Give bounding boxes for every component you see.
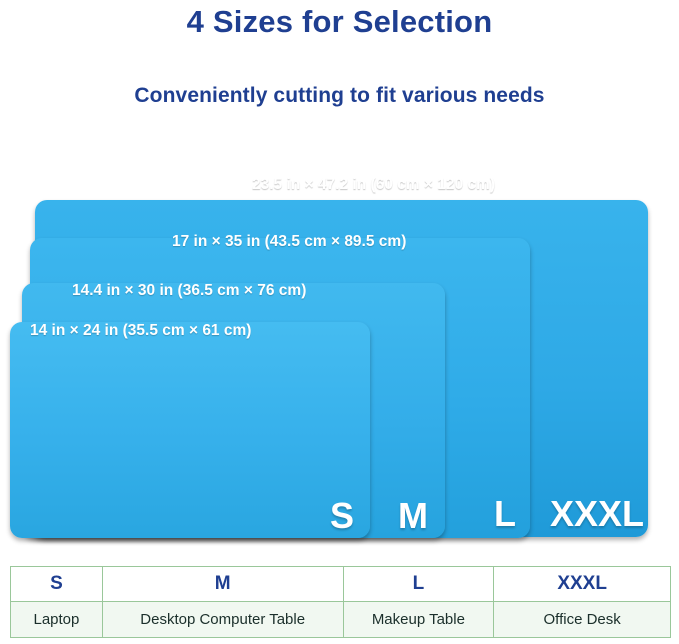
table-column-l: L Makeup Table (344, 567, 495, 637)
mat-stack: 23.5 in × 47.2 in (60 cm × 120 cm) 17 in… (0, 0, 679, 560)
table-cell-l-use: Makeup Table (344, 602, 494, 637)
table-column-s: S Laptop (11, 567, 103, 637)
table-column-xxxl: XXXL Office Desk (494, 567, 670, 637)
mat-dimension-m: 14.4 in × 30 in (36.5 cm × 76 cm) (72, 282, 306, 300)
table-column-m: M Desktop Computer Table (103, 567, 344, 637)
mat-dimension-xxxl: 23.5 in × 47.2 in (60 cm × 120 cm) (252, 176, 495, 194)
size-selection-infographic: 4 Sizes for Selection Conveniently cutti… (0, 0, 679, 644)
mat-label-l: L (494, 493, 516, 535)
mat-dimension-l: 17 in × 35 in (43.5 cm × 89.5 cm) (172, 233, 406, 251)
table-cell-xxxl-use: Office Desk (494, 602, 670, 637)
table-header-s: S (11, 567, 102, 602)
mat-s (10, 322, 370, 538)
table-header-xxxl: XXXL (494, 567, 670, 602)
table-cell-m-use: Desktop Computer Table (103, 602, 343, 637)
mat-dimension-s: 14 in × 24 in (35.5 cm × 61 cm) (30, 322, 251, 340)
mat-label-xxxl: XXXL (550, 493, 644, 535)
size-usage-table: S Laptop M Desktop Computer Table L Make… (10, 566, 671, 638)
mat-label-s: S (330, 495, 354, 537)
mat-label-m: M (398, 495, 428, 537)
table-header-l: L (344, 567, 494, 602)
table-cell-s-use: Laptop (11, 602, 102, 637)
table-header-m: M (103, 567, 343, 602)
